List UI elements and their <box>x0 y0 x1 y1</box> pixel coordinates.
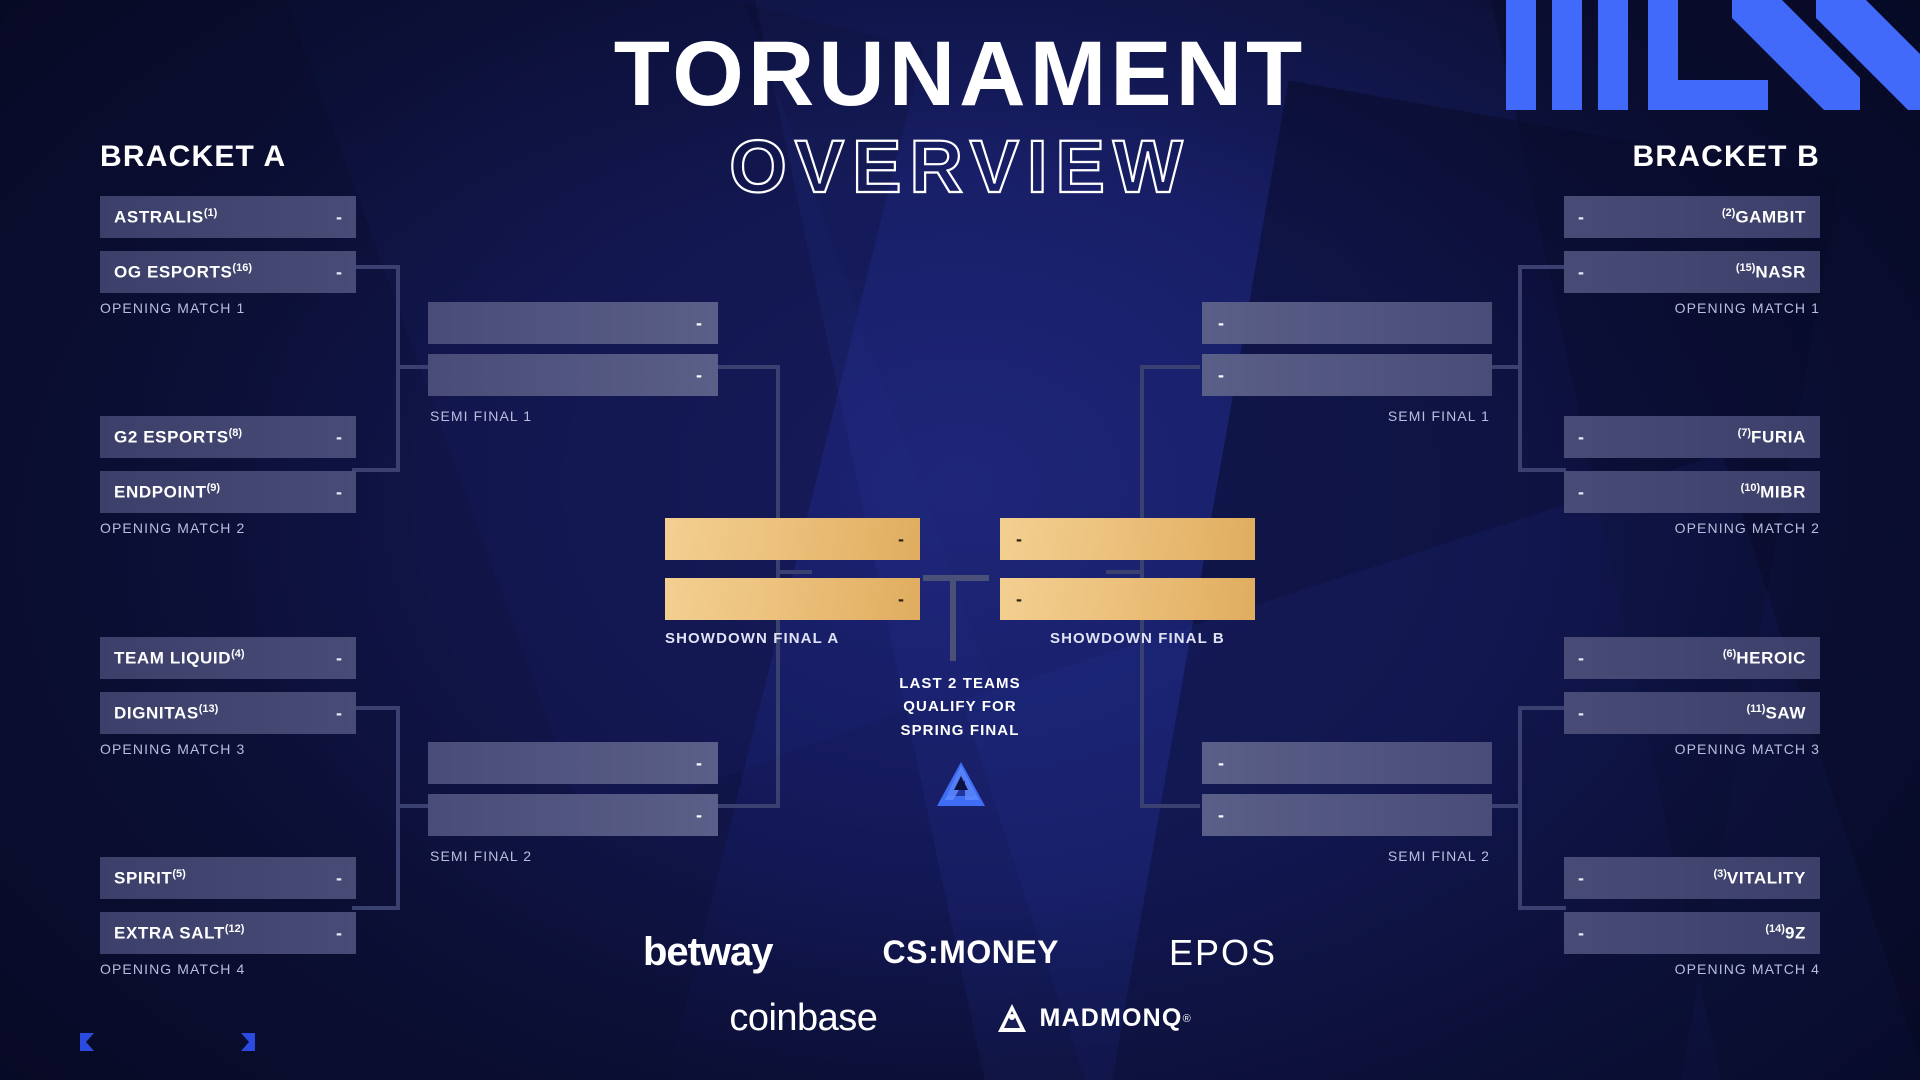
slot-score: - <box>1016 589 1022 610</box>
match-label: OPENING MATCH 2 <box>100 520 245 536</box>
team-seed: (13) <box>199 703 219 715</box>
qualification-note-line1: LAST 2 TEAMS <box>880 672 1040 695</box>
connector <box>352 706 400 710</box>
team-row[interactable]: - (15)NASR <box>1564 251 1820 293</box>
sponsor-bar: betway CS:MONEY EPOS coinbase MADMONQ® <box>0 930 1920 1040</box>
semifinal-label: SEMI FINAL 1 <box>1388 408 1490 424</box>
team-name: ENDPOINT(9) <box>114 482 220 503</box>
semifinal-slot[interactable]: - <box>428 302 718 344</box>
team-row[interactable]: - (11)SAW <box>1564 692 1820 734</box>
match-label: OPENING MATCH 3 <box>1675 741 1820 757</box>
sponsor-csmoney-label: CS:MONEY <box>883 934 1059 971</box>
qualification-note-line3: SPRING FINAL <box>880 719 1040 742</box>
team-name: ASTRALIS(1) <box>114 207 217 228</box>
team-seed: (4) <box>231 648 244 660</box>
slot-score: - <box>696 365 702 386</box>
connector <box>352 906 400 910</box>
team-seed: (9) <box>207 482 220 494</box>
sponsor-row-2: coinbase MADMONQ® <box>0 997 1920 1040</box>
connector <box>1518 706 1566 710</box>
team-score: - <box>336 262 342 283</box>
team-row[interactable]: TEAM LIQUID(4) - <box>100 637 356 679</box>
team-row[interactable]: OG ESPORTS(16) - <box>100 251 356 293</box>
team-row[interactable]: - (3)VITALITY <box>1564 857 1820 899</box>
team-score: - <box>336 703 342 724</box>
team-score: - <box>336 427 342 448</box>
semifinal-slot[interactable]: - <box>1202 302 1492 344</box>
slot-score: - <box>1218 313 1224 334</box>
semifinal-slot[interactable]: - <box>428 354 718 396</box>
bracket-b-title: BRACKET B <box>1633 140 1820 174</box>
semifinal-slot[interactable]: - <box>1202 794 1492 836</box>
slot-score: - <box>898 529 904 550</box>
team-score: - <box>1578 207 1584 228</box>
team-score: - <box>336 207 342 228</box>
connector <box>1518 706 1522 910</box>
team-row[interactable]: SPIRIT(5) - <box>100 857 356 899</box>
slot-score: - <box>1218 805 1224 826</box>
semifinal-slot[interactable]: - <box>1202 354 1492 396</box>
team-name: (15)NASR <box>1736 262 1806 283</box>
team-score: - <box>1578 703 1584 724</box>
team-seed: (2) <box>1722 207 1735 219</box>
slot-score: - <box>1016 529 1022 550</box>
team-score: - <box>336 482 342 503</box>
team-row[interactable]: - (2)GAMBIT <box>1564 196 1820 238</box>
team-name: (10)MIBR <box>1741 482 1806 503</box>
team-score: - <box>1578 262 1584 283</box>
semifinal-slot[interactable]: - <box>1202 742 1492 784</box>
madmonq-mark-icon <box>995 1002 1029 1036</box>
team-name: (6)HEROIC <box>1723 648 1806 669</box>
sponsor-row-1: betway CS:MONEY EPOS <box>0 930 1920 975</box>
sponsor-madmonq-label: MADMONQ <box>1039 1004 1182 1033</box>
slot-score: - <box>696 805 702 826</box>
team-score: - <box>1578 482 1584 503</box>
sponsor-coinbase: coinbase <box>729 997 877 1040</box>
semifinal-label: SEMI FINAL 2 <box>430 848 532 864</box>
page-title: TORUNAMENT <box>0 28 1920 120</box>
team-row[interactable]: ENDPOINT(9) - <box>100 471 356 513</box>
team-name: OG ESPORTS(16) <box>114 262 252 283</box>
team-name: G2 ESPORTS(8) <box>114 427 242 448</box>
semifinal-slot[interactable]: - <box>428 742 718 784</box>
registered-mark: ® <box>1183 1013 1191 1025</box>
team-name: TEAM LIQUID(4) <box>114 648 245 669</box>
team-seed: (11) <box>1747 703 1766 715</box>
connector <box>718 804 780 808</box>
connector <box>1140 804 1200 808</box>
team-score: - <box>1578 648 1584 669</box>
sponsor-epos: EPOS <box>1169 932 1277 974</box>
team-seed: (5) <box>172 868 185 880</box>
team-name: (2)GAMBIT <box>1722 207 1806 228</box>
slot-score: - <box>696 753 702 774</box>
sponsor-madmonq: MADMONQ® <box>995 1002 1190 1036</box>
team-score: - <box>1578 427 1584 448</box>
team-row[interactable]: - (6)HEROIC <box>1564 637 1820 679</box>
connector <box>396 706 400 910</box>
team-name: (7)FURIA <box>1738 427 1806 448</box>
sponsor-betway: betway <box>643 930 773 975</box>
connector <box>1140 365 1200 369</box>
slot-score: - <box>1218 753 1224 774</box>
team-row[interactable]: ASTRALIS(1) - <box>100 196 356 238</box>
showdown-final-slot[interactable]: - <box>1000 578 1255 620</box>
team-row[interactable]: - (10)MIBR <box>1564 471 1820 513</box>
team-score: - <box>1578 868 1584 889</box>
sponsor-csmoney: CS:MONEY <box>883 934 1059 971</box>
team-seed: (16) <box>232 262 252 274</box>
team-row[interactable]: DIGNITAS(13) - <box>100 692 356 734</box>
connector <box>718 365 780 369</box>
connector <box>1518 468 1566 472</box>
team-seed: (15) <box>1736 262 1756 274</box>
connector <box>776 570 812 574</box>
match-label: OPENING MATCH 1 <box>100 300 245 316</box>
semifinal-label: SEMI FINAL 2 <box>1388 848 1490 864</box>
bracket-a-title: BRACKET A <box>100 140 286 174</box>
team-name: DIGNITAS(13) <box>114 703 218 724</box>
team-row[interactable]: - (7)FURIA <box>1564 416 1820 458</box>
team-score: - <box>336 648 342 669</box>
connector <box>1518 265 1566 269</box>
showdown-final-b-label: SHOWDOWN FINAL B <box>1050 630 1225 647</box>
connector <box>1106 570 1142 574</box>
connector-center <box>923 575 989 581</box>
blast-logo-icon <box>935 760 987 815</box>
team-name: SPIRIT(5) <box>114 868 186 889</box>
showdown-final-slot[interactable]: - <box>665 518 920 560</box>
connector <box>352 265 400 269</box>
showdown-final-slot[interactable]: - <box>1000 518 1255 560</box>
team-seed: (3) <box>1713 868 1726 880</box>
qualification-note: LAST 2 TEAMS QUALIFY FOR SPRING FINAL <box>880 672 1040 742</box>
qualification-note-line2: QUALIFY FOR <box>880 695 1040 718</box>
team-name: (11)SAW <box>1747 703 1807 724</box>
showdown-final-a-label: SHOWDOWN FINAL A <box>665 630 839 647</box>
team-name: (3)VITALITY <box>1713 868 1806 889</box>
semifinal-slot[interactable]: - <box>428 794 718 836</box>
team-seed: (10) <box>1741 482 1761 494</box>
slot-score: - <box>696 313 702 334</box>
match-label: OPENING MATCH 1 <box>1675 300 1820 316</box>
team-seed: (6) <box>1723 648 1736 660</box>
slot-score: - <box>898 589 904 610</box>
team-seed: (1) <box>204 207 217 219</box>
slot-score: - <box>1218 365 1224 386</box>
team-score: - <box>336 868 342 889</box>
semifinal-label: SEMI FINAL 1 <box>430 408 532 424</box>
page-title-block: TORUNAMENT OVERVIEW <box>0 28 1920 207</box>
connector <box>352 468 400 472</box>
match-label: OPENING MATCH 2 <box>1675 520 1820 536</box>
connector <box>1518 906 1566 910</box>
team-row[interactable]: G2 ESPORTS(8) - <box>100 416 356 458</box>
match-label: OPENING MATCH 3 <box>100 741 245 757</box>
team-seed: (8) <box>229 427 242 439</box>
connector-center-stem <box>950 575 956 661</box>
team-seed: (7) <box>1738 427 1751 439</box>
showdown-final-slot[interactable]: - <box>665 578 920 620</box>
